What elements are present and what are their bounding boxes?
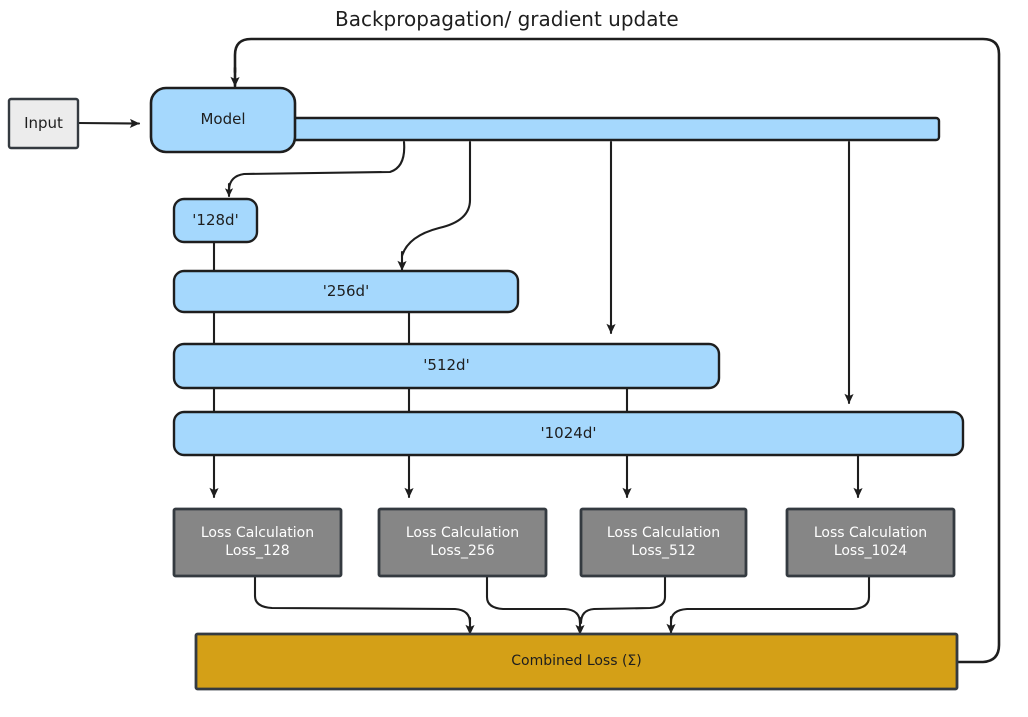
node-combined-loss[interactable] — [196, 634, 957, 689]
node-dim-512[interactable] — [174, 344, 719, 388]
edge-input-to-model — [78, 123, 139, 124]
node-dim-1024[interactable] — [174, 412, 963, 455]
node-model[interactable] — [151, 88, 295, 152]
diagram-canvas: Backpropagation/ gradient update Input M… — [0, 0, 1028, 717]
backpropagation-title: Backpropagation/ gradient update — [335, 7, 679, 31]
node-dim-256[interactable] — [174, 271, 518, 312]
node-top-bar — [285, 118, 939, 140]
diagram-svg — [0, 0, 1028, 717]
edge-loss1024-to-combined — [671, 576, 869, 633]
node-loss-128[interactable] — [174, 509, 341, 576]
edge-loss128-to-combined — [255, 576, 470, 634]
node-dim-128[interactable] — [174, 199, 257, 242]
node-loss-256[interactable] — [379, 509, 546, 576]
edge-model-to-256d — [402, 142, 470, 270]
node-loss-512[interactable] — [581, 509, 746, 576]
edge-loss512-to-combined — [581, 576, 665, 623]
edge-loss256-to-combined — [487, 576, 580, 634]
node-input[interactable] — [9, 99, 78, 148]
node-loss-1024[interactable] — [787, 509, 954, 576]
